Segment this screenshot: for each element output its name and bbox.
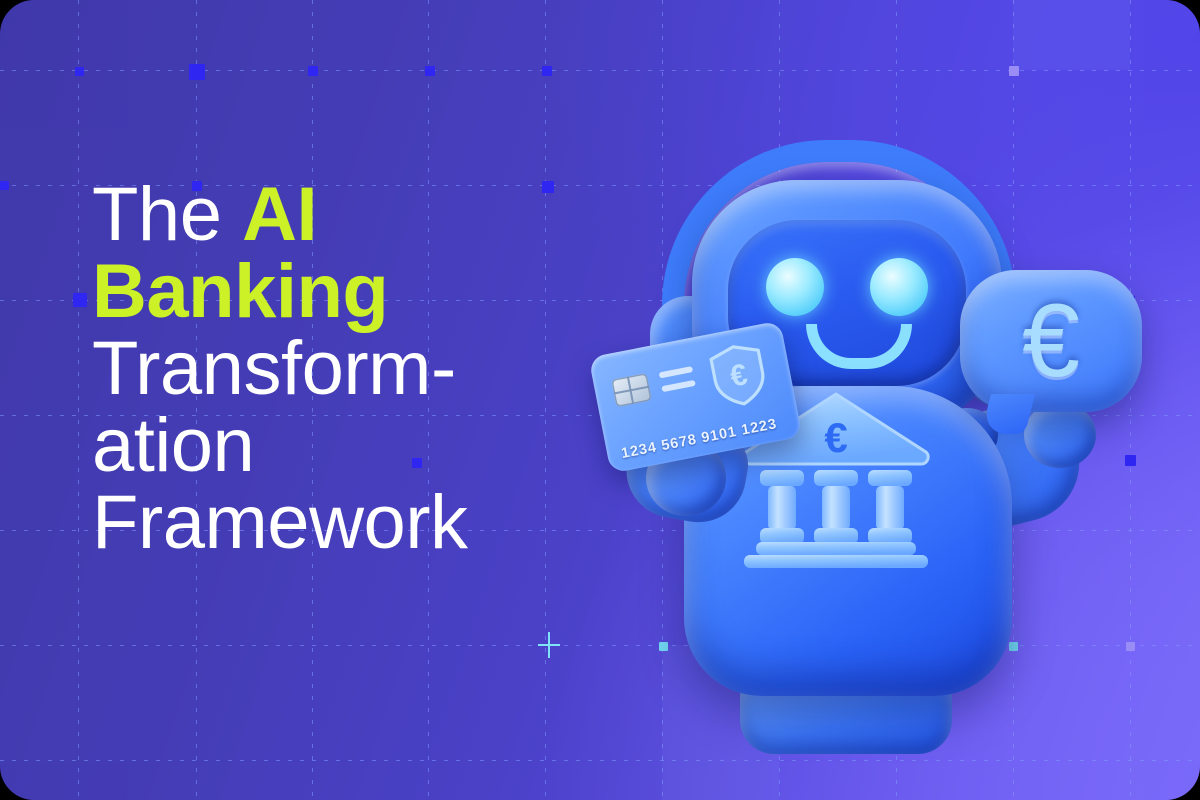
credit-card-stripe [661,380,696,392]
credit-card-chip-icon [611,373,652,407]
grid-node-marker [1009,66,1019,76]
euro-chat-bubble: € [960,270,1142,412]
grid-node-marker [425,66,435,76]
grid-node-marker [542,66,552,76]
robot-smile-icon [806,324,912,369]
robot-eye-right-icon [870,258,928,316]
page-title: The AI Banking Transform- ation Framewor… [92,179,592,564]
grid-highlight-cell [1013,0,1130,70]
credit-card-stripe [659,366,694,378]
grid-line-horizontal [0,70,1200,71]
chat-bubble-euro-symbol: € [960,270,1142,412]
headline-line-3: Transform- [92,333,592,406]
grid-node-marker [75,67,84,76]
banner-card: The AI Banking Transform- ation Framewor… [0,0,1200,800]
headline-text: The [92,172,242,257]
grid-crosshair-marker [538,632,560,658]
grid-node-marker [0,181,9,190]
headline-accent-banking: Banking [92,249,388,334]
headline-line-1: The AI [92,179,592,252]
grid-node-marker [308,66,318,76]
bank-euro-symbol: € [824,414,847,461]
headline-accent-ai: AI [242,172,317,257]
headline-line-5: Framework [92,487,592,560]
grid-line-vertical [78,0,79,800]
ai-banking-robot-illustration: € [592,128,1172,668]
grid-node-marker [189,64,205,80]
grid-node-marker [73,293,87,307]
euro-shield-icon: € [705,339,772,413]
robot-eye-left-icon [766,258,824,316]
grid-line-horizontal [0,760,1200,761]
headline-line-4: ation [92,410,592,483]
headline-line-2: Banking [92,256,592,329]
